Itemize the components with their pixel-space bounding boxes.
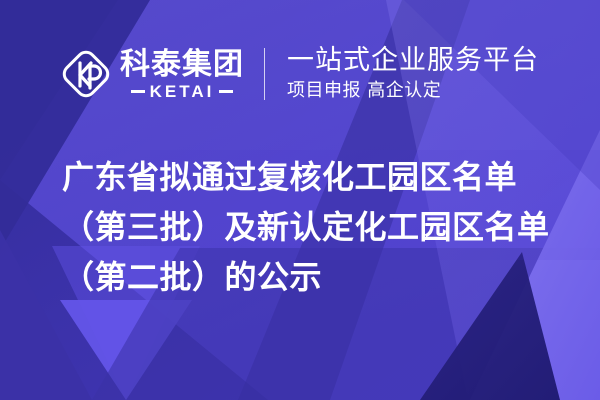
kp-monogram-icon bbox=[58, 46, 114, 102]
headline-title: 广东省拟通过复核化工园区名单（第三批）及新认定化工园区名单（第二批）的公示 bbox=[62, 152, 567, 302]
slogan-block: 一站式企业服务平台 项目申报 高企认定 bbox=[287, 45, 539, 103]
logo-wordmark: 科泰集团 KETAI bbox=[120, 49, 244, 100]
logo-rule-right-icon bbox=[219, 90, 233, 93]
logo-company-cn: 科泰集团 bbox=[120, 49, 244, 81]
logo-en-row: KETAI bbox=[131, 83, 234, 100]
logo-company-en: KETAI bbox=[150, 83, 215, 100]
logo-rule-left-icon bbox=[131, 90, 145, 93]
brand-header: 科泰集团 KETAI 一站式企业服务平台 项目申报 高企认定 bbox=[0, 38, 600, 110]
header-divider bbox=[264, 48, 265, 100]
slogan-sub: 项目申报 高企认定 bbox=[287, 79, 539, 103]
slogan-main: 一站式企业服务平台 bbox=[287, 45, 539, 77]
announcement-banner: 科泰集团 KETAI 一站式企业服务平台 项目申报 高企认定 广东省拟通过复核化… bbox=[0, 0, 600, 400]
